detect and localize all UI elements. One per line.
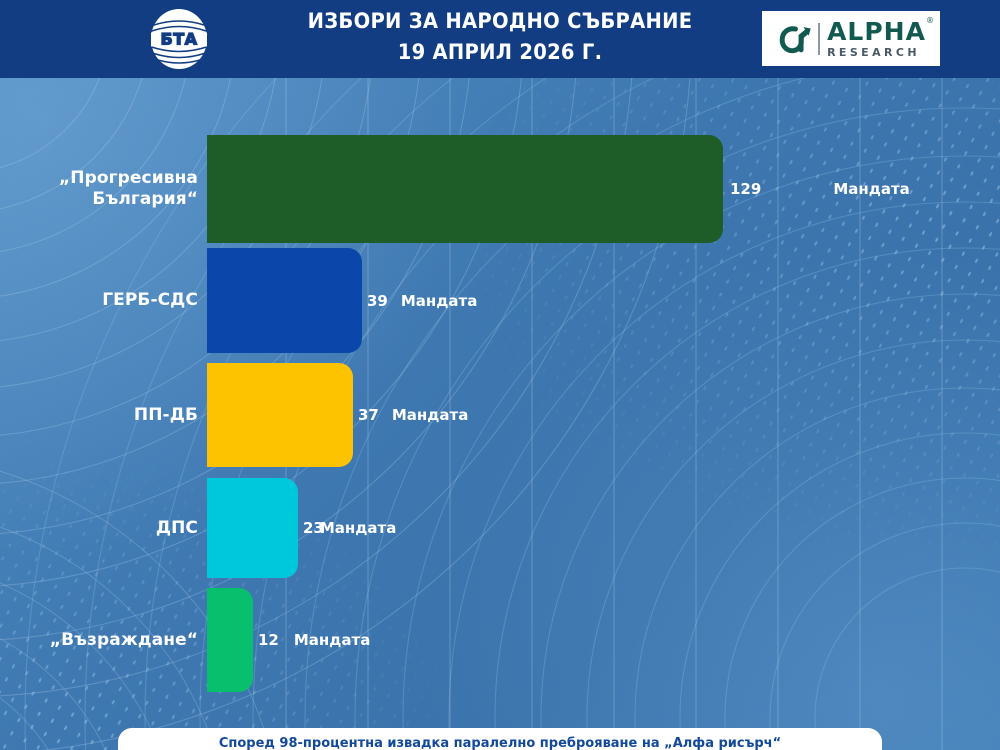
bar-row: „Прогресивна България“ 129 Мандата	[0, 135, 1000, 243]
bar-value-group: 23 Мандата	[303, 478, 396, 578]
bar-category-label: „Прогресивна България“	[0, 135, 198, 243]
bar-row: „Възраждане“ 12 Мандата	[0, 588, 1000, 692]
bar-value-group: 129 Мандата	[730, 135, 910, 243]
bar-category-label-line1: „Възраждане“	[50, 630, 198, 651]
footer-note-bar: Според 98-процентна извадка паралелно пр…	[118, 728, 882, 750]
bar-value-number: 12	[258, 631, 279, 649]
page-title: ИЗБОРИ ЗА НАРОДНО СЪБРАНИЕ 19 АПРИЛ 2026…	[268, 6, 733, 68]
bar-category-label: ПП-ДБ	[0, 363, 198, 467]
bar-value-group: 12 Мандата	[258, 588, 370, 692]
bar-value-rect	[207, 248, 362, 353]
bar-value-unit: Мандата	[320, 519, 396, 537]
title-line-1: ИЗБОРИ ЗА НАРОДНО СЪБРАНИЕ	[268, 6, 733, 37]
alpha-logo-subtitle: RESEARCH	[827, 47, 926, 58]
bar-value-group: 39 Мандата	[367, 248, 477, 353]
bar-value-rect	[207, 588, 253, 692]
bar-value-number: 129	[730, 180, 761, 198]
header-bar: БТА ИЗБОРИ ЗА НАРОДНО СЪБРАНИЕ 19 АПРИЛ …	[0, 0, 1000, 78]
alpha-logo-word: ALPHA	[827, 17, 926, 46]
svg-text:БТА: БТА	[161, 30, 198, 49]
bar-row: ПП-ДБ 37 Мандата	[0, 363, 1000, 467]
registered-trademark-icon: ®	[926, 17, 935, 25]
bar-category-label-line1: ПП-ДБ	[134, 405, 198, 426]
bar-value-number: 37	[358, 406, 379, 424]
bar-category-label-line2: България“	[59, 189, 198, 210]
bta-globe-icon: БТА	[138, 8, 220, 70]
alpha-logo-name: ALPHA ®	[827, 19, 926, 44]
bar-row: ГЕРБ-СДС 39 Мандата	[0, 248, 1000, 353]
alpha-arrow-icon	[776, 20, 814, 58]
bar-value-unit: Мандата	[294, 631, 370, 649]
bar-category-label-line1: „Прогресивна	[59, 168, 198, 189]
bar-row: ДПС 23 Мандата	[0, 478, 1000, 578]
footer-note-text: Според 98-процентна извадка паралелно пр…	[219, 736, 781, 750]
bar-category-label: „Възраждане“	[0, 588, 198, 692]
bar-value-unit: Мандата	[833, 180, 909, 198]
alpha-research-logo: ALPHA ® RESEARCH	[762, 11, 940, 66]
election-results-slide: БТА ИЗБОРИ ЗА НАРОДНО СЪБРАНИЕ 19 АПРИЛ …	[0, 0, 1000, 750]
bar-value-rect	[207, 363, 353, 467]
bar-value-unit: Мандата	[401, 292, 477, 310]
title-line-2: 19 АПРИЛ 2026 Г.	[268, 37, 733, 68]
bar-value-rect	[207, 135, 723, 243]
bar-value-number: 39	[367, 292, 388, 310]
bar-category-label: ДПС	[0, 478, 198, 578]
bar-value-rect	[207, 478, 298, 578]
logo-divider	[818, 23, 820, 55]
bar-value-unit: Мандата	[392, 406, 468, 424]
bar-chart: „Прогресивна България“ 129 Мандата ГЕРБ-…	[0, 78, 1000, 750]
bar-category-label-line1: ГЕРБ-СДС	[102, 290, 198, 311]
bar-value-group: 37 Мандата	[358, 363, 468, 467]
bar-category-label-line1: ДПС	[156, 518, 198, 539]
bar-category-label: ГЕРБ-СДС	[0, 248, 198, 353]
